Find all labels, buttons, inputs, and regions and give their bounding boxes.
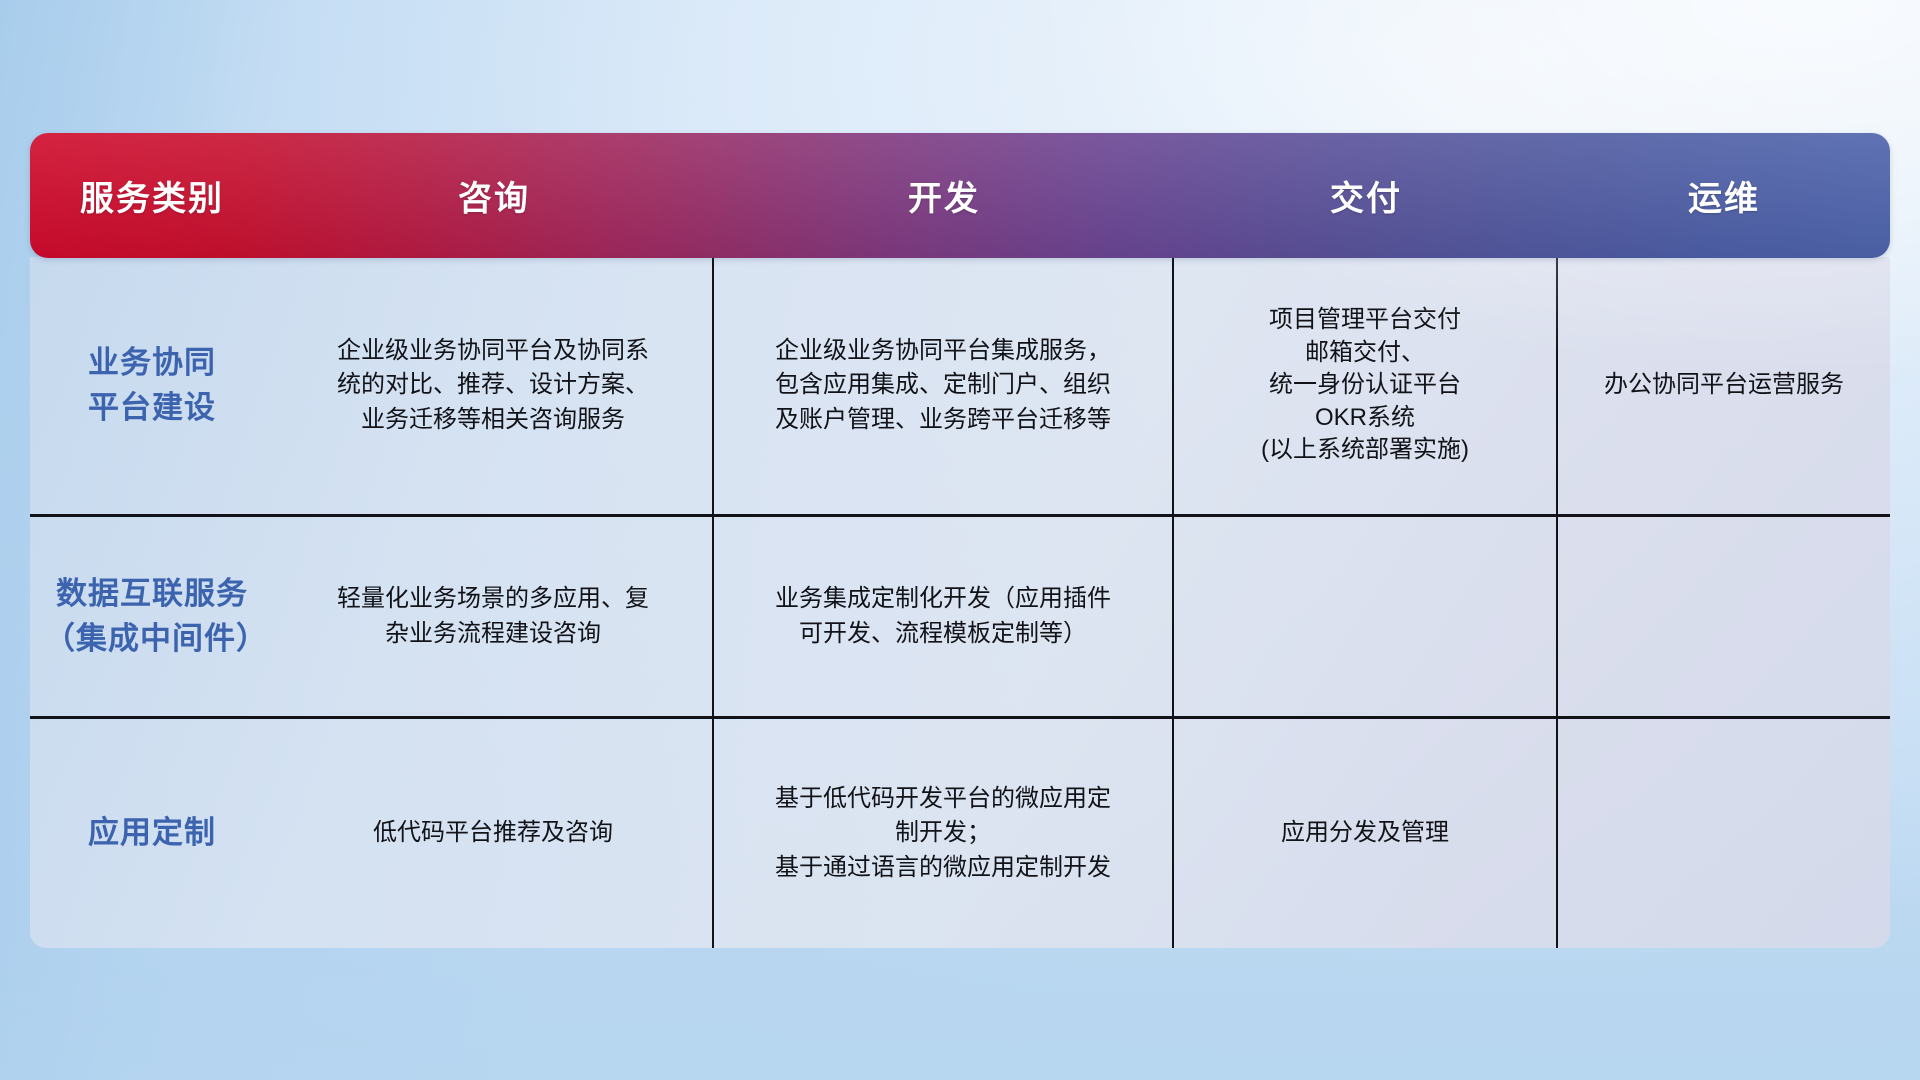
- cell-text: 基于低代码开发平台的微应用定 制开发； 基于通过语言的微应用定制开发: [775, 782, 1111, 884]
- cell-text: 企业级业务协同平台及协同系 统的对比、推荐、设计方案、 业务迁移等相关咨询服务: [337, 334, 649, 436]
- cell-consulting: 企业级业务协同平台及协同系 统的对比、推荐、设计方案、 业务迁移等相关咨询服务: [274, 257, 714, 514]
- cell-text: 轻量化业务场景的多应用、复 杂业务流程建设咨询: [337, 582, 649, 650]
- cell-development: 业务集成定制化开发（应用插件 可开发、流程模板定制等）: [714, 517, 1174, 716]
- cell-development: 基于低代码开发平台的微应用定 制开发； 基于通过语言的微应用定制开发: [714, 719, 1174, 948]
- row-label-cell: 业务协同 平台建设: [30, 257, 274, 514]
- table-row: 业务协同 平台建设 企业级业务协同平台及协同系 统的对比、推荐、设计方案、 业务…: [30, 257, 1890, 517]
- row-label-text: 业务协同 平台建设: [88, 341, 216, 429]
- row-label-cell: 数据互联服务 （集成中间件）: [30, 517, 274, 716]
- cell-consulting: 低代码平台推荐及咨询: [274, 719, 714, 948]
- table-header-service-category: 服务类别: [30, 171, 274, 220]
- cell-text: 企业级业务协同平台集成服务， 包含应用集成、定制门户、组织 及账户管理、业务跨平…: [775, 334, 1111, 436]
- table-row: 数据互联服务 （集成中间件） 轻量化业务场景的多应用、复 杂业务流程建设咨询 业…: [30, 517, 1890, 719]
- row-label-text: 数据互联服务 （集成中间件）: [44, 572, 260, 660]
- cell-text: 业务集成定制化开发（应用插件 可开发、流程模板定制等）: [775, 582, 1111, 650]
- cell-text: 办公协同平台运营服务: [1604, 368, 1844, 402]
- table-header-delivery: 交付: [1174, 171, 1558, 220]
- cell-delivery: [1174, 517, 1558, 716]
- table-row: 应用定制 低代码平台推荐及咨询 基于低代码开发平台的微应用定 制开发； 基于通过…: [30, 719, 1890, 948]
- cell-operations: [1558, 517, 1890, 716]
- cell-consulting: 轻量化业务场景的多应用、复 杂业务流程建设咨询: [274, 517, 714, 716]
- cell-operations: [1558, 719, 1890, 948]
- slide-canvas: 服务类别 咨询 开发 交付 运维 业务协同 平台建设 企业级业务协同平台及协同系…: [0, 0, 1920, 1080]
- row-label-text: 应用定制: [88, 811, 216, 855]
- cell-delivery: 项目管理平台交付 邮箱交付、 统一身份认证平台 OKR系统 (以上系统部署实施): [1174, 257, 1558, 514]
- service-category-table: 服务类别 咨询 开发 交付 运维 业务协同 平台建设 企业级业务协同平台及协同系…: [30, 133, 1890, 948]
- table-header-operations: 运维: [1558, 171, 1890, 220]
- table-header-development: 开发: [714, 171, 1174, 220]
- table-header-consulting: 咨询: [274, 171, 714, 220]
- cell-delivery: 应用分发及管理: [1174, 719, 1558, 948]
- cell-text: 项目管理平台交付 邮箱交付、 统一身份认证平台 OKR系统 (以上系统部署实施): [1261, 304, 1469, 467]
- cell-text: 低代码平台推荐及咨询: [373, 816, 613, 850]
- table-header-row: 服务类别 咨询 开发 交付 运维: [30, 133, 1890, 258]
- cell-development: 企业级业务协同平台集成服务， 包含应用集成、定制门户、组织 及账户管理、业务跨平…: [714, 257, 1174, 514]
- cell-operations: 办公协同平台运营服务: [1558, 257, 1890, 514]
- cell-text: 应用分发及管理: [1281, 816, 1449, 850]
- table-body: 业务协同 平台建设 企业级业务协同平台及协同系 统的对比、推荐、设计方案、 业务…: [30, 257, 1890, 948]
- row-label-cell: 应用定制: [30, 719, 274, 948]
